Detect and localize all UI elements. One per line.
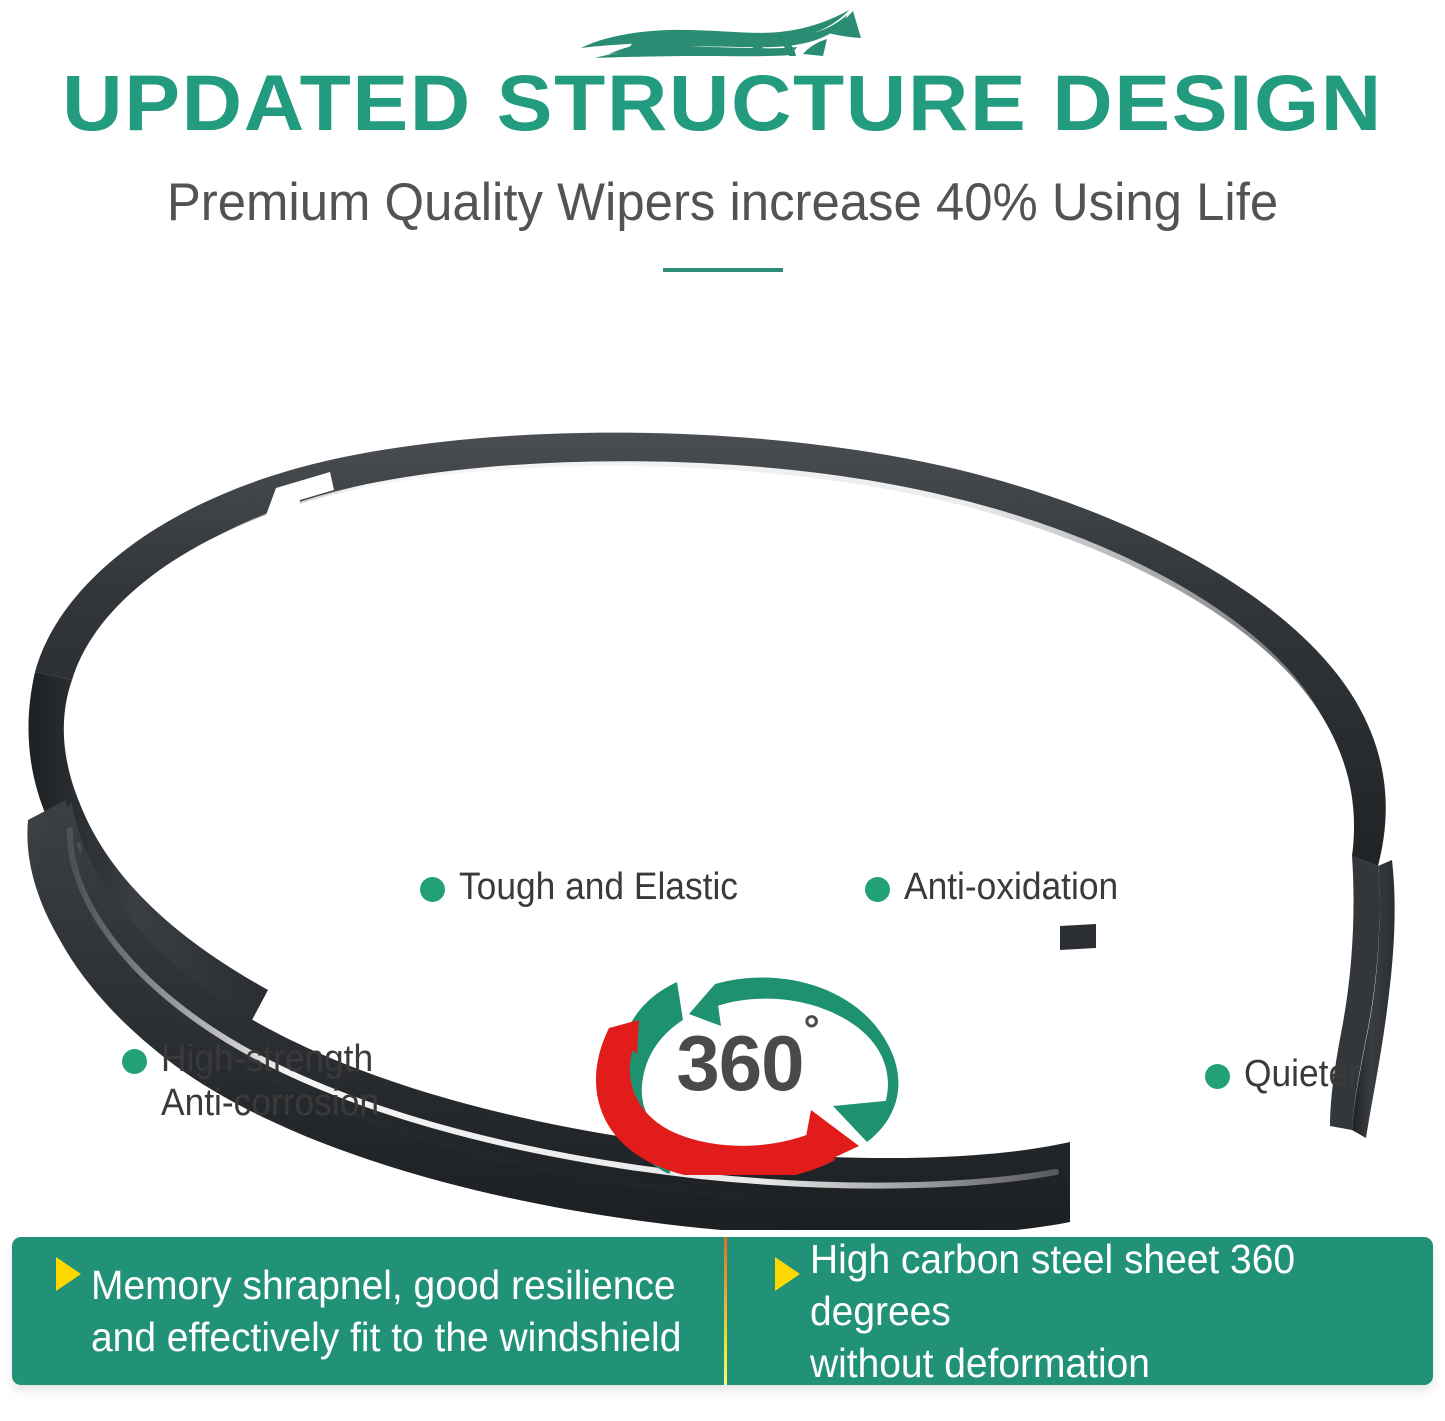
red-arrow-body — [596, 1028, 835, 1175]
callout-label: High-strength Anti-corrosion — [161, 1037, 379, 1125]
banner-item-text: High carbon steel sheet 360 degrees with… — [810, 1233, 1402, 1389]
callout-tough-and-elastic: Tough and Elastic — [420, 865, 759, 909]
callout-anti-oxidation: Anti-oxidation — [865, 865, 1134, 909]
callout-label: Quieter — [1244, 1052, 1360, 1096]
callout-label: Anti-oxidation — [904, 865, 1118, 909]
rotation-arrows-icon — [565, 950, 925, 1175]
strip-outer-highlight — [90, 465, 1347, 848]
page-subtitle: Premium Quality Wipers increase 40% Usin… — [29, 172, 1416, 234]
header-section: UPDATED STRUCTURE DESIGN Premium Quality… — [0, 0, 1445, 300]
strip-notch-lower-right-2 — [1000, 1040, 1096, 1100]
callout-quieter: Quieter — [1205, 1052, 1369, 1096]
play-triangle-icon — [775, 1257, 800, 1291]
banner-item-memory-shrapnel: Memory shrapnel, good resilience and eff… — [12, 1237, 723, 1385]
bullet-dot-icon — [122, 1049, 147, 1074]
bullet-dot-icon — [420, 877, 445, 902]
badge-360-degree: 360 ° — [565, 950, 925, 1175]
callout-label: Tough and Elastic — [459, 865, 738, 909]
bullet-dot-icon — [865, 877, 890, 902]
banner-item-text: Memory shrapnel, good resilience and eff… — [91, 1259, 681, 1363]
bullet-dot-icon — [1205, 1064, 1230, 1089]
product-stage: Tough and Elastic Anti-oxidation High-st… — [0, 300, 1445, 1230]
strip-outer-top-band — [35, 433, 1386, 866]
play-triangle-icon — [56, 1257, 81, 1291]
header-divider-rule — [663, 268, 783, 272]
strip-notch-tab-upper — [1060, 924, 1096, 950]
feature-banner: Memory shrapnel, good resilience and eff… — [12, 1237, 1433, 1385]
banner-item-high-carbon-steel: High carbon steel sheet 360 degrees with… — [723, 1237, 1434, 1385]
callout-high-strength-anti-corrosion: High-strength Anti-corrosion — [122, 1037, 395, 1125]
car-silhouette-icon — [573, 4, 873, 62]
page-title: UPDATED STRUCTURE DESIGN — [0, 58, 1445, 148]
